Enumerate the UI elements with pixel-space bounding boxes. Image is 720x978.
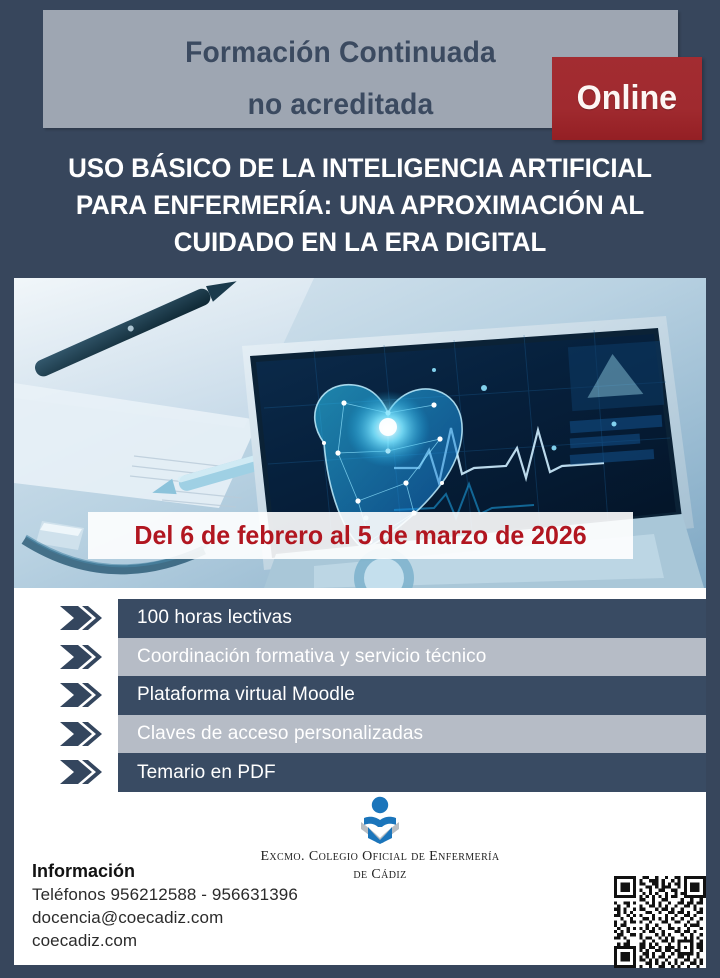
feature-row: Coordinación formativa y servicio técnic… — [14, 638, 706, 677]
feature-row: Temario en PDF — [14, 753, 706, 792]
feature-bar: Coordinación formativa y servicio técnic… — [118, 638, 706, 677]
contact-phones: Teléfonos 956212588 - 956631396 — [32, 883, 392, 906]
feature-bar: Claves de acceso personalizadas — [118, 715, 706, 754]
qr-code-icon[interactable] — [614, 876, 706, 968]
feature-row: 100 horas lectivas — [14, 599, 706, 638]
chevron-right-icon — [58, 681, 102, 709]
header-line-2: no acreditada — [61, 88, 620, 122]
date-banner-label: Del 6 de febrero al 5 de marzo de 2026 — [134, 520, 586, 551]
header-zone: Formación Continuada no acreditada Onlin… — [0, 0, 720, 140]
feature-label: Coordinación formativa y servicio técnic… — [118, 646, 486, 668]
feature-label: Claves de acceso personalizadas — [118, 723, 423, 745]
contact-email[interactable]: docencia@coecadiz.com — [32, 906, 392, 929]
feature-bar: Temario en PDF — [118, 753, 706, 792]
chevron-right-icon — [58, 758, 102, 786]
feature-bar: Plataforma virtual Moodle — [118, 676, 706, 715]
feature-label: 100 horas lectivas — [118, 607, 292, 629]
online-badge: Online — [552, 57, 702, 140]
nursing-college-figure-icon — [352, 794, 408, 846]
contact-heading: Información — [32, 860, 392, 883]
feature-bar: 100 horas lectivas — [118, 599, 706, 638]
feature-label: Plataforma virtual Moodle — [118, 684, 355, 706]
course-title: USO BÁSICO DE LA INTELIGENCIA ARTIFICIAL… — [30, 150, 690, 261]
feature-row: Claves de acceso personalizadas — [14, 715, 706, 754]
course-title-line-1: USO BÁSICO DE LA INTELIGENCIA ARTIFICIAL — [43, 150, 677, 187]
chevron-right-icon — [58, 720, 102, 748]
contact-block: Información Teléfonos 956212588 - 956631… — [32, 860, 392, 952]
white-panel: 100 horas lectivas Coordinación formativ… — [14, 588, 706, 965]
online-badge-label: Online — [577, 79, 678, 118]
feature-label: Temario en PDF — [118, 762, 276, 784]
feature-row: Plataforma virtual Moodle — [14, 676, 706, 715]
course-title-line-3: CUIDADO EN LA ERA DIGITAL — [43, 224, 677, 261]
contact-website[interactable]: coecadiz.com — [32, 929, 392, 952]
feature-list: 100 horas lectivas Coordinación formativ… — [14, 599, 706, 792]
header-line-1: Formación Continuada — [61, 36, 620, 70]
course-title-line-2: PARA ENFERMERÍA: UNA APROXIMACIÓN AL — [43, 187, 677, 224]
date-banner: Del 6 de febrero al 5 de marzo de 2026 — [88, 512, 633, 559]
chevron-right-icon — [58, 604, 102, 632]
chevron-right-icon — [58, 643, 102, 671]
